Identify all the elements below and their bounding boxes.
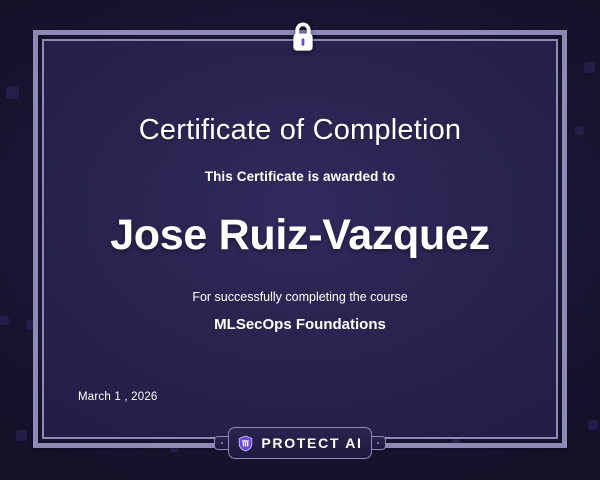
- awarded-label: This Certificate is awarded to: [44, 169, 556, 184]
- page-title: Certificate of Completion: [44, 114, 556, 147]
- shield-logo-icon: [237, 435, 254, 452]
- brand-name: PROTECT AI: [261, 435, 362, 451]
- badge-tab-right: [371, 436, 386, 450]
- badge-tab-left: [214, 436, 229, 450]
- decor-square: [0, 316, 9, 325]
- brand-badge: PROTECT AI: [214, 427, 386, 459]
- course-name: MLSecOps Foundations: [44, 316, 556, 333]
- issue-date: March 1 , 2026: [78, 391, 158, 403]
- badge-plate: PROTECT AI: [228, 427, 372, 459]
- decor-square: [588, 420, 598, 430]
- course-label: For successfully completing the course: [44, 290, 556, 304]
- decor-square: [18, 430, 26, 438]
- decor-square: [575, 126, 584, 135]
- certificate-card: Certificate of Completion This Certifica…: [0, 0, 600, 480]
- certificate-content: Certificate of Completion This Certifica…: [44, 41, 556, 437]
- decor-square: [6, 86, 19, 99]
- recipient-name: Jose Ruiz-Vazquez: [44, 211, 556, 260]
- decor-square: [16, 430, 27, 441]
- decor-square: [584, 62, 595, 73]
